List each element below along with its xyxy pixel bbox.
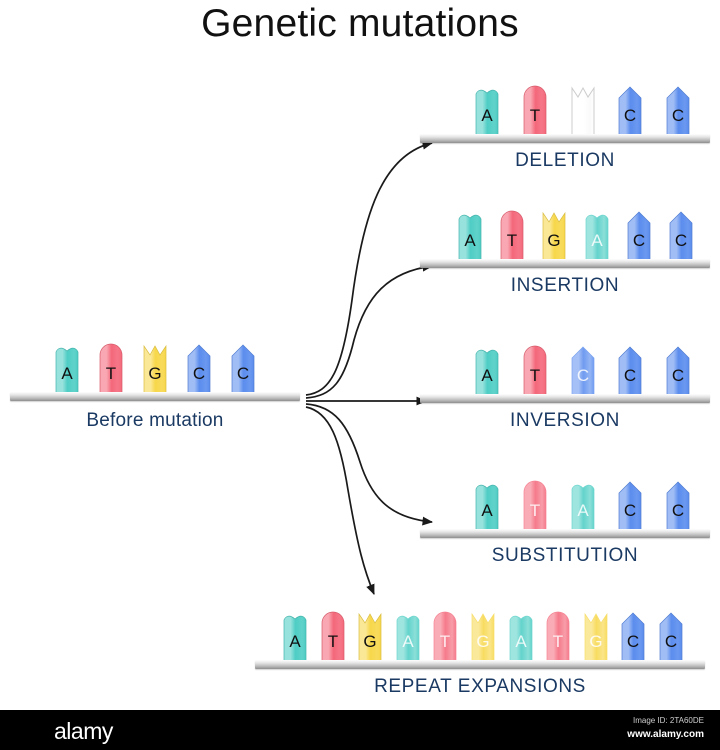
base-row: ATACC bbox=[475, 477, 690, 533]
base-shape bbox=[621, 610, 645, 664]
base-row: ATGACC bbox=[458, 207, 693, 263]
sequence-caption: REPEAT EXPANSIONS bbox=[255, 676, 705, 698]
sequence-repeat-expansions: ATGATGATGCC REPEAT EXPANSIONS bbox=[255, 608, 705, 703]
dna-base-c: C bbox=[627, 209, 651, 263]
dna-base-a: A bbox=[396, 610, 420, 664]
base-shape bbox=[618, 479, 642, 533]
sequence-caption: INSERTION bbox=[420, 275, 710, 297]
base-shape bbox=[358, 610, 382, 664]
dna-backbone bbox=[420, 259, 710, 268]
dna-backbone bbox=[255, 660, 705, 669]
base-shape bbox=[523, 479, 547, 533]
sequence-deletion: ATCC DELETION bbox=[420, 82, 710, 172]
dna-base-c: C bbox=[187, 342, 211, 396]
dna-base-g bbox=[571, 84, 595, 138]
dna-base-g: G bbox=[584, 610, 608, 664]
base-row: ATCCC bbox=[475, 342, 690, 398]
alamy-logo: alamy bbox=[54, 718, 113, 745]
base-row: ATGATGATGCC bbox=[283, 608, 683, 664]
dna-base-t: T bbox=[523, 479, 547, 533]
dna-base-g: G bbox=[471, 610, 495, 664]
watermark-bar: alamy Image ID: 2TA60DE www.alamy.com bbox=[0, 710, 720, 750]
base-shape bbox=[471, 610, 495, 664]
dna-base-c: C bbox=[666, 84, 690, 138]
alamy-url: www.alamy.com bbox=[627, 729, 704, 740]
dna-base-c: C bbox=[571, 344, 595, 398]
dna-base-c: C bbox=[666, 344, 690, 398]
sequence-insertion: ATGACC INSERTION bbox=[420, 207, 710, 297]
base-shape bbox=[627, 209, 651, 263]
base-shape bbox=[523, 344, 547, 398]
dna-base-t: T bbox=[523, 84, 547, 138]
dna-base-t: T bbox=[523, 344, 547, 398]
base-shape bbox=[475, 344, 499, 398]
base-shape bbox=[666, 84, 690, 138]
sequence-caption: DELETION bbox=[420, 150, 710, 172]
dna-base-a: A bbox=[509, 610, 533, 664]
dna-base-t: T bbox=[433, 610, 457, 664]
dna-base-t: T bbox=[546, 610, 570, 664]
base-shape bbox=[475, 479, 499, 533]
sequence-before-mutation: ATGCC Before mutation bbox=[10, 340, 300, 430]
dna-base-a: A bbox=[475, 344, 499, 398]
dna-base-t: T bbox=[321, 610, 345, 664]
base-shape bbox=[659, 610, 683, 664]
base-shape bbox=[55, 342, 79, 396]
dna-base-c: C bbox=[231, 342, 255, 396]
sequence-caption: Before mutation bbox=[10, 410, 300, 432]
base-shape bbox=[571, 344, 595, 398]
sequence-caption: SUBSTITUTION bbox=[420, 545, 710, 567]
base-shape bbox=[585, 209, 609, 263]
base-shape bbox=[571, 84, 595, 138]
dna-base-a: A bbox=[55, 342, 79, 396]
dna-backbone bbox=[420, 134, 710, 143]
dna-base-t: T bbox=[99, 342, 123, 396]
dna-base-c: C bbox=[618, 84, 642, 138]
dna-base-g: G bbox=[143, 342, 167, 396]
base-shape bbox=[99, 342, 123, 396]
base-shape bbox=[618, 84, 642, 138]
dna-backbone bbox=[10, 392, 300, 401]
dna-base-c: C bbox=[618, 479, 642, 533]
dna-backbone bbox=[420, 529, 710, 538]
dna-base-t: T bbox=[500, 209, 524, 263]
sequence-caption: INVERSION bbox=[420, 410, 710, 432]
base-shape bbox=[231, 342, 255, 396]
page-title: Genetic mutations bbox=[0, 2, 720, 46]
dna-base-c: C bbox=[669, 209, 693, 263]
base-shape bbox=[666, 344, 690, 398]
base-row: ATCC bbox=[475, 82, 690, 138]
dna-base-a: A bbox=[475, 84, 499, 138]
base-shape bbox=[666, 479, 690, 533]
base-row: ATGCC bbox=[55, 340, 255, 396]
image-id-label: Image ID: 2TA60DE bbox=[633, 716, 704, 725]
dna-base-c: C bbox=[621, 610, 645, 664]
dna-base-g: G bbox=[358, 610, 382, 664]
base-shape bbox=[143, 342, 167, 396]
dna-base-c: C bbox=[618, 344, 642, 398]
base-shape bbox=[669, 209, 693, 263]
dna-base-a: A bbox=[475, 479, 499, 533]
base-shape bbox=[433, 610, 457, 664]
dna-base-a: A bbox=[283, 610, 307, 664]
dna-base-c: C bbox=[666, 479, 690, 533]
sequence-inversion: ATCCC INVERSION bbox=[420, 342, 710, 432]
dna-backbone bbox=[420, 394, 710, 403]
base-shape bbox=[321, 610, 345, 664]
base-shape bbox=[187, 342, 211, 396]
dna-base-a: A bbox=[571, 479, 595, 533]
dna-base-c: C bbox=[659, 610, 683, 664]
dna-base-a: A bbox=[458, 209, 482, 263]
base-shape bbox=[500, 209, 524, 263]
base-shape bbox=[546, 610, 570, 664]
base-shape bbox=[458, 209, 482, 263]
base-shape bbox=[396, 610, 420, 664]
base-shape bbox=[509, 610, 533, 664]
diagram-canvas: Genetic mutations ATGCC Before mutation … bbox=[0, 0, 720, 750]
dna-base-a: A bbox=[585, 209, 609, 263]
base-shape bbox=[283, 610, 307, 664]
base-shape bbox=[571, 479, 595, 533]
base-shape bbox=[523, 84, 547, 138]
sequence-substitution: ATACC SUBSTITUTION bbox=[420, 477, 710, 567]
base-shape bbox=[542, 209, 566, 263]
base-shape bbox=[475, 84, 499, 138]
base-shape bbox=[584, 610, 608, 664]
dna-base-g: G bbox=[542, 209, 566, 263]
base-shape bbox=[618, 344, 642, 398]
